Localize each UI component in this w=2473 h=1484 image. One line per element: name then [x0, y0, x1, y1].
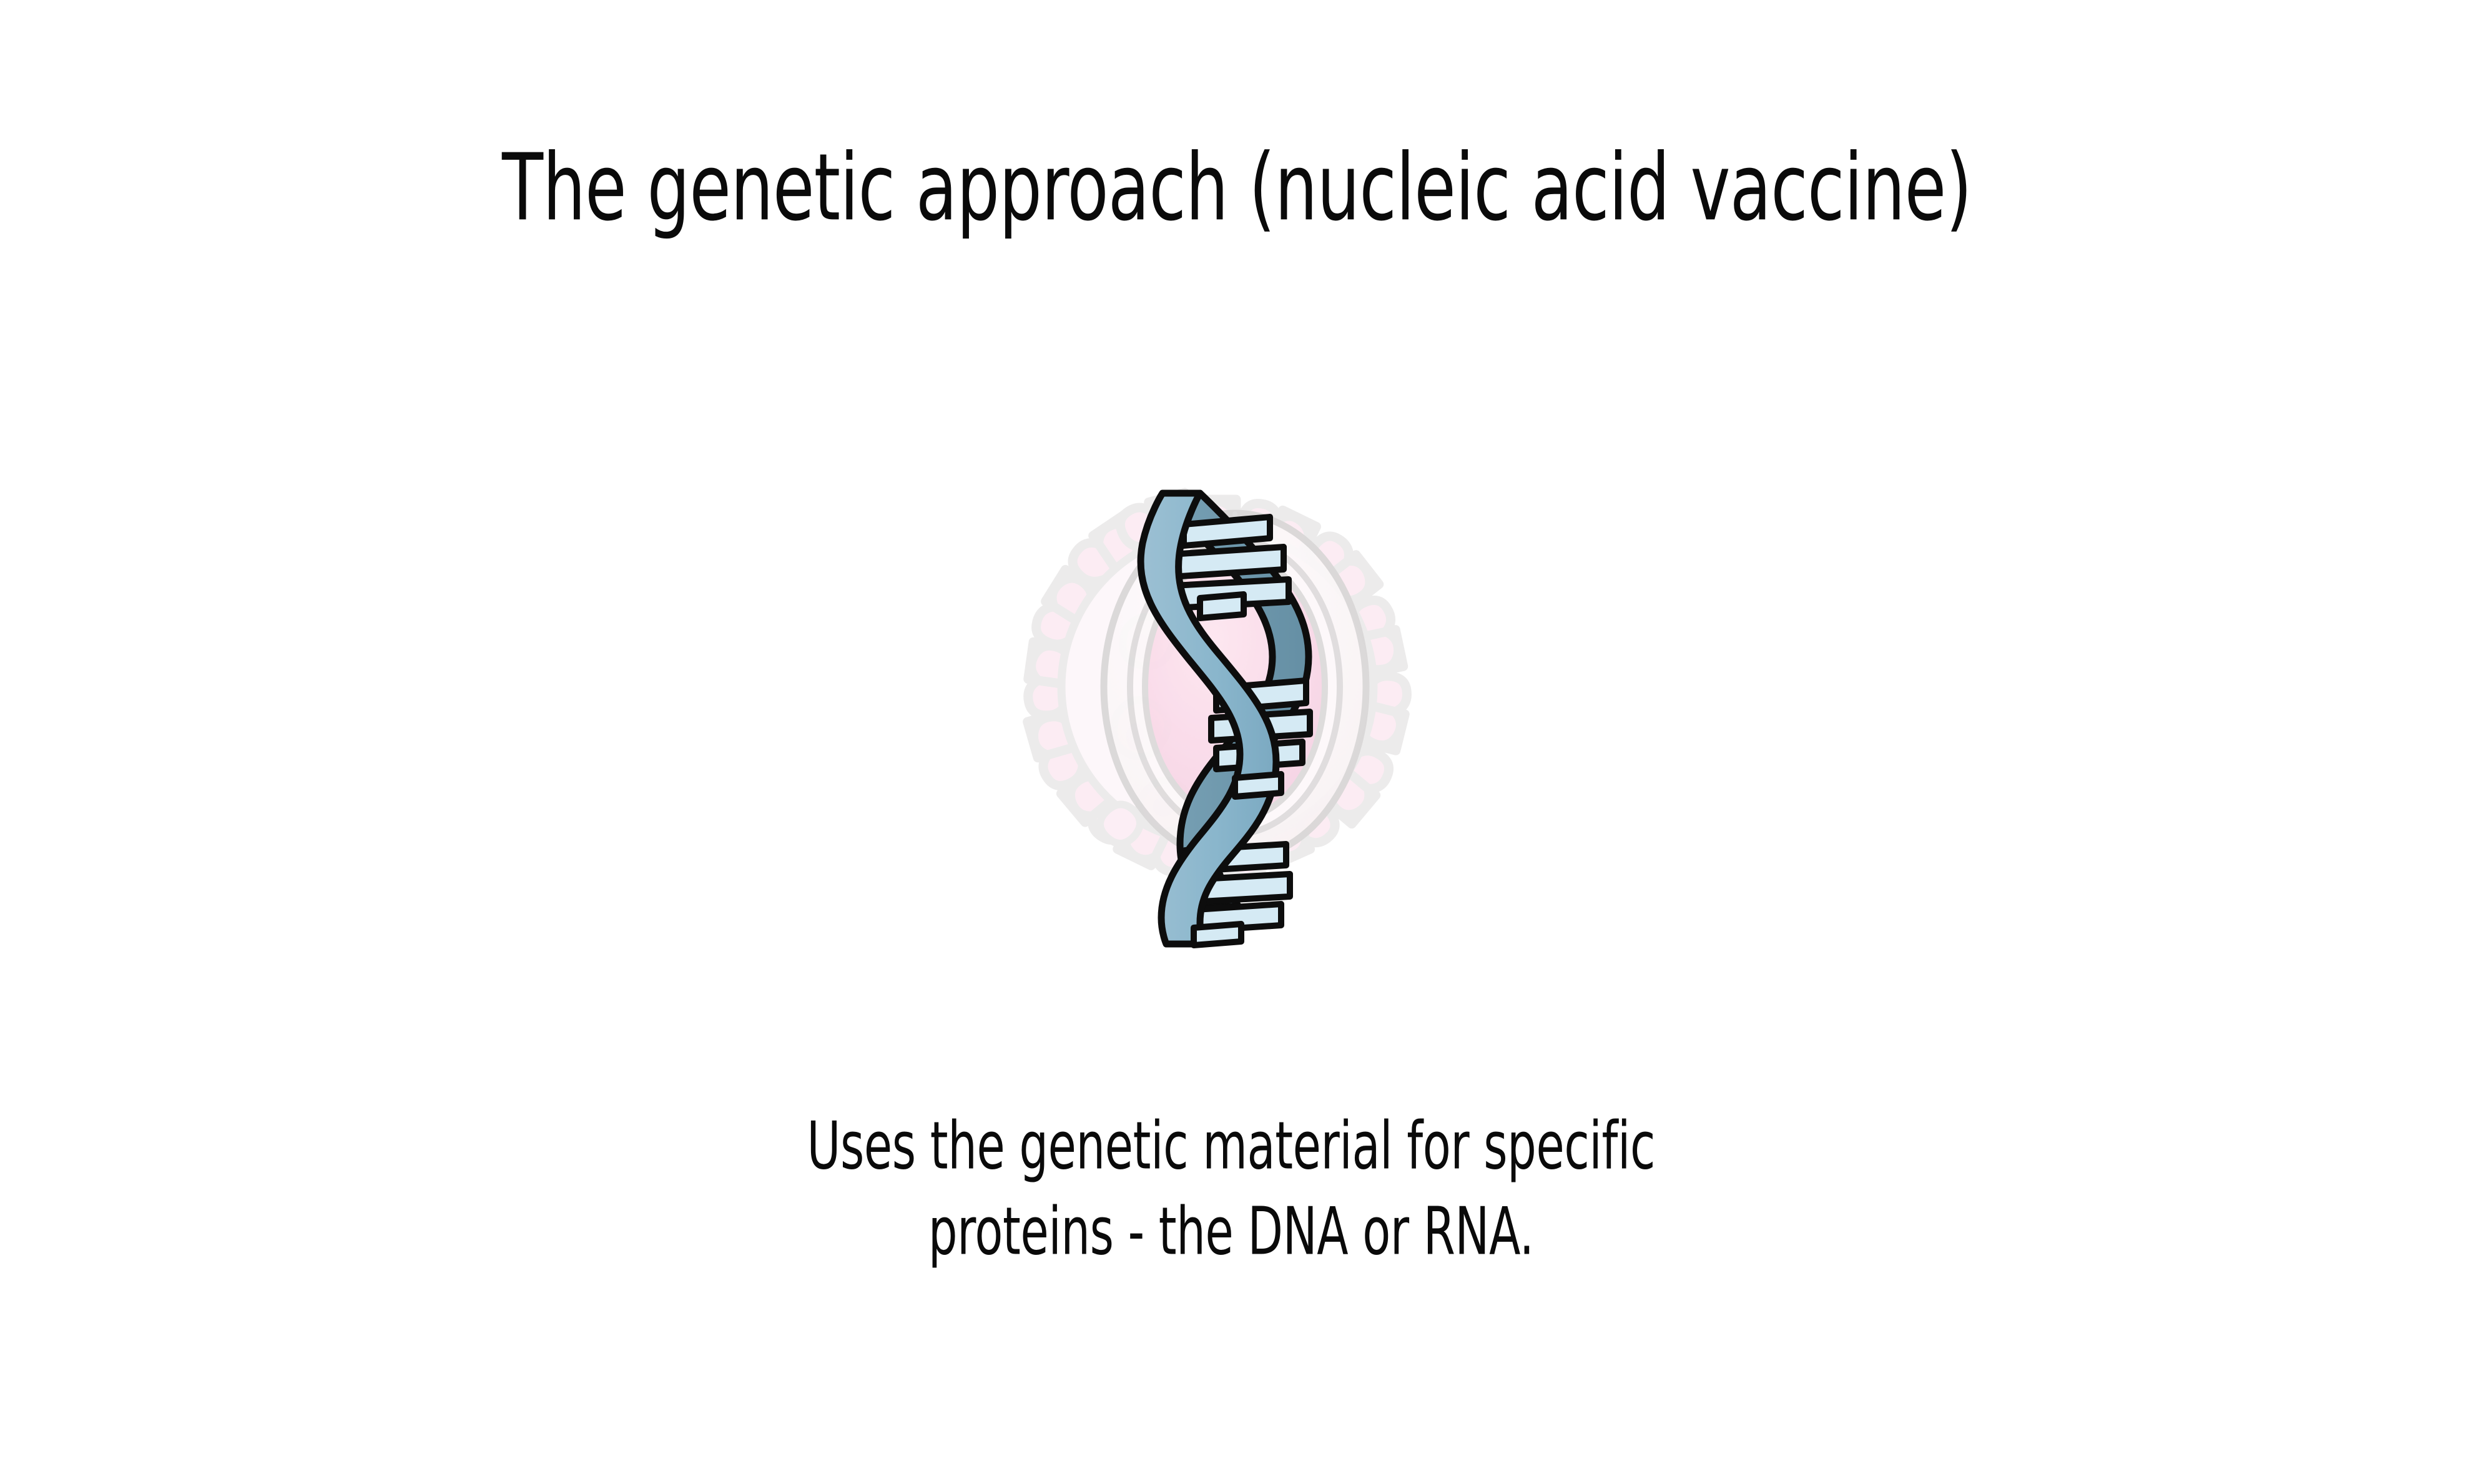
figure-caption: Uses the genetic material for specific p… — [242, 1104, 2220, 1274]
caption-line-1: Uses the genetic material for specific — [242, 1104, 2220, 1189]
virus-illustration — [868, 337, 1605, 1061]
caption-line-2: proteins - the DNA or RNA. — [242, 1189, 2220, 1274]
page-title: The genetic approach (nucleic acid vacci… — [223, 140, 2251, 237]
